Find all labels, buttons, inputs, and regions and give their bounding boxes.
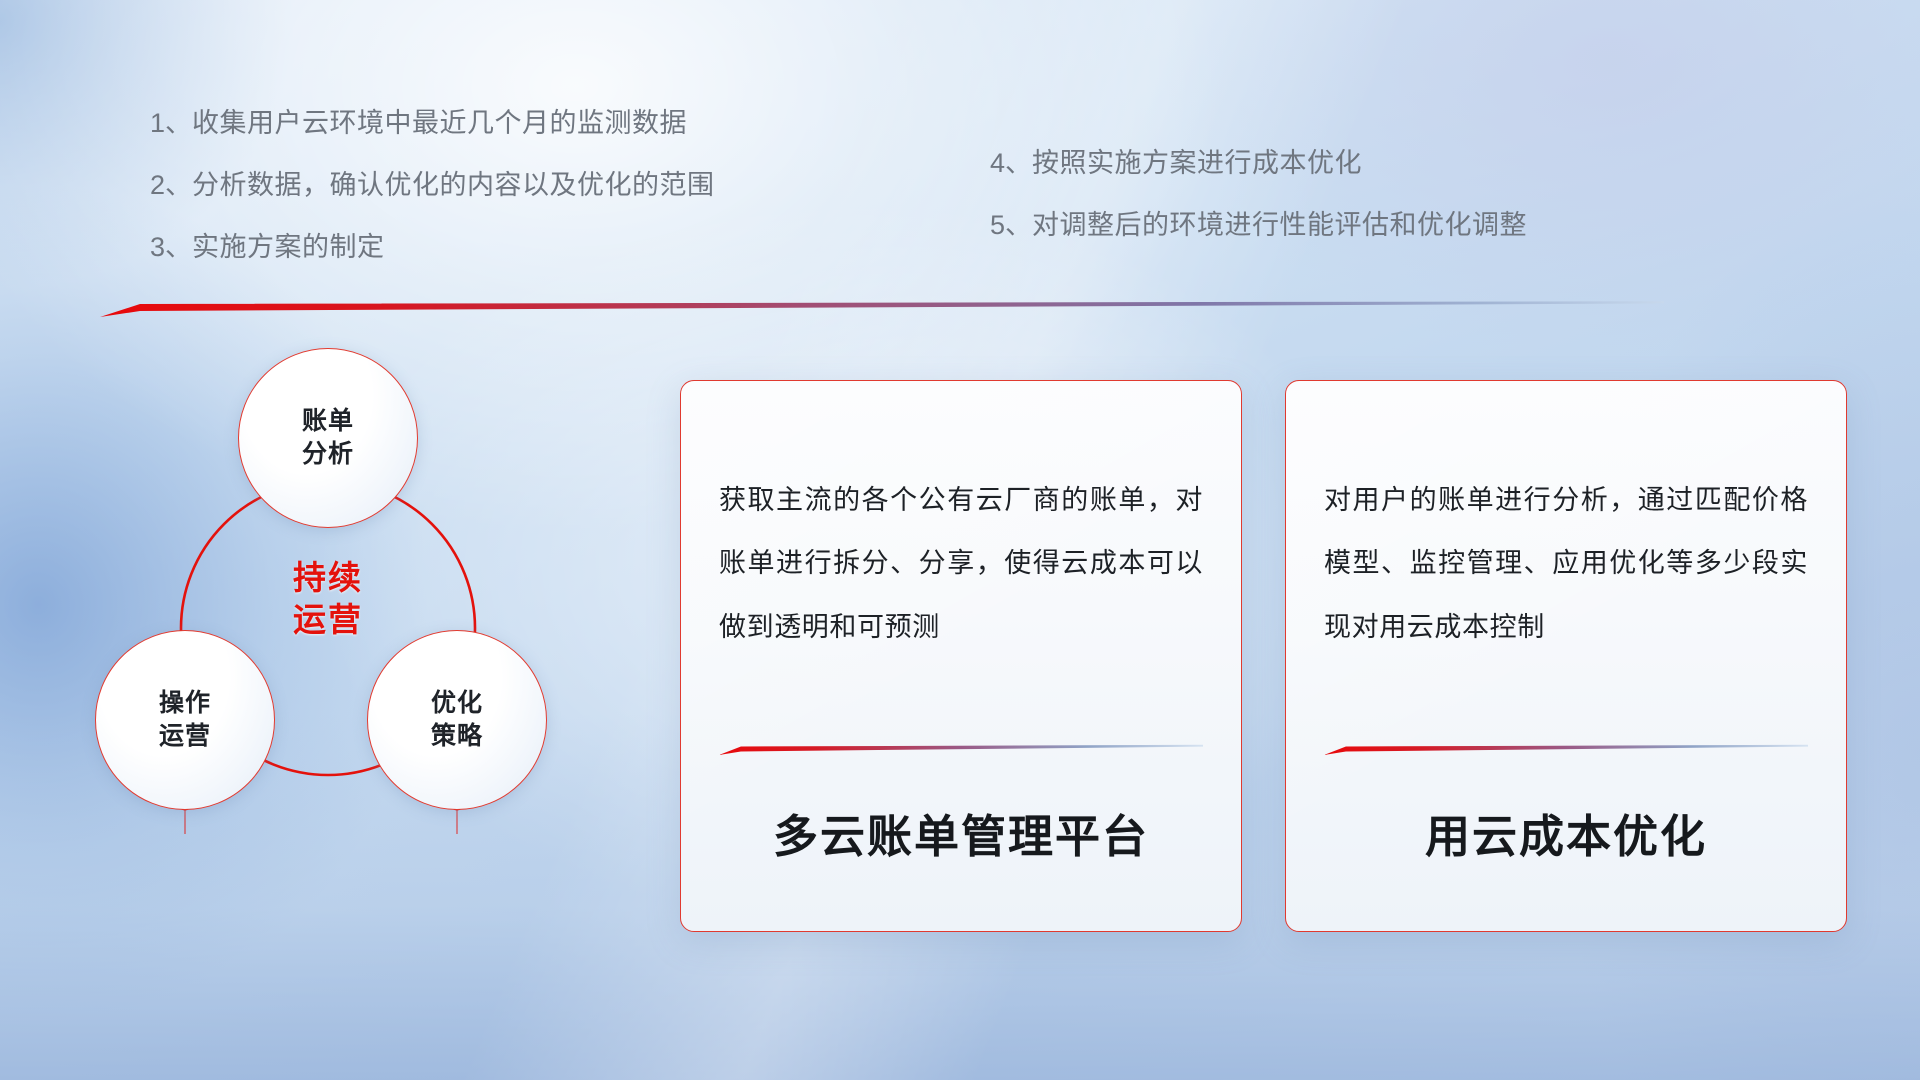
step-number: 5、 (990, 210, 1032, 240)
bubble-line-1: 操作 (159, 687, 211, 720)
bubble-line-2: 运营 (159, 720, 211, 753)
venn-center-line-1: 持续 (293, 557, 363, 599)
feature-card-cloud-cost-optimization[interactable]: 对用户的账单进行分析，通过匹配价格模型、监控管理、应用优化等多少段实现对用云成本… (1285, 380, 1847, 932)
card-title: 多云账单管理平台 (719, 756, 1203, 931)
card-body-text: 对用户的账单进行分析，通过匹配价格模型、监控管理、应用优化等多少段实现对用云成本… (1324, 469, 1808, 659)
bubble-line-1: 账单 (302, 405, 354, 438)
venn-center-line-2: 运营 (293, 599, 363, 641)
feature-card-multicloud-billing[interactable]: 获取主流的各个公有云厂商的账单，对账单进行拆分、分享，使得云成本可以做到透明和可… (680, 380, 1242, 932)
step-number: 4、 (990, 148, 1032, 178)
venn-center-label: 持续 运营 (243, 534, 413, 664)
process-step-item: 5、对调整后的环境进行性能评估和优化调整 (990, 212, 1527, 239)
bubble-line-2: 分析 (302, 438, 354, 471)
process-steps-right: 4、按照实施方案进行成本优化 5、对调整后的环境进行性能评估和优化调整 (990, 150, 1527, 274)
section-divider (100, 300, 1664, 318)
card-divider (1324, 744, 1808, 756)
step-text: 收集用户云环境中最近几个月的监测数据 (192, 108, 687, 138)
step-text: 按照实施方案进行成本优化 (1032, 148, 1362, 178)
step-number: 3、 (150, 232, 192, 262)
process-steps-left: 1、收集用户云环境中最近几个月的监测数据 2、分析数据，确认优化的内容以及优化的… (150, 110, 715, 296)
step-number: 1、 (150, 108, 192, 138)
step-text: 实施方案的制定 (192, 232, 385, 262)
venn-bubble-billing-analysis[interactable]: 账单 分析 (238, 348, 418, 528)
process-step-item: 3、实施方案的制定 (150, 234, 715, 261)
process-step-item: 1、收集用户云环境中最近几个月的监测数据 (150, 110, 715, 137)
continuous-operations-diagram: 账单 分析 操作 运营 优化 策略 持续 运营 (95, 348, 655, 948)
bubble-line-1: 优化 (431, 687, 483, 720)
card-title: 用云成本优化 (1324, 756, 1808, 931)
step-text: 分析数据，确认优化的内容以及优化的范围 (192, 170, 715, 200)
bubble-line-2: 策略 (431, 720, 483, 753)
step-text: 对调整后的环境进行性能评估和优化调整 (1032, 210, 1527, 240)
process-step-item: 4、按照实施方案进行成本优化 (990, 150, 1527, 177)
step-number: 2、 (150, 170, 192, 200)
process-step-item: 2、分析数据，确认优化的内容以及优化的范围 (150, 172, 715, 199)
card-divider (719, 744, 1203, 756)
card-body-text: 获取主流的各个公有云厂商的账单，对账单进行拆分、分享，使得云成本可以做到透明和可… (719, 469, 1203, 659)
